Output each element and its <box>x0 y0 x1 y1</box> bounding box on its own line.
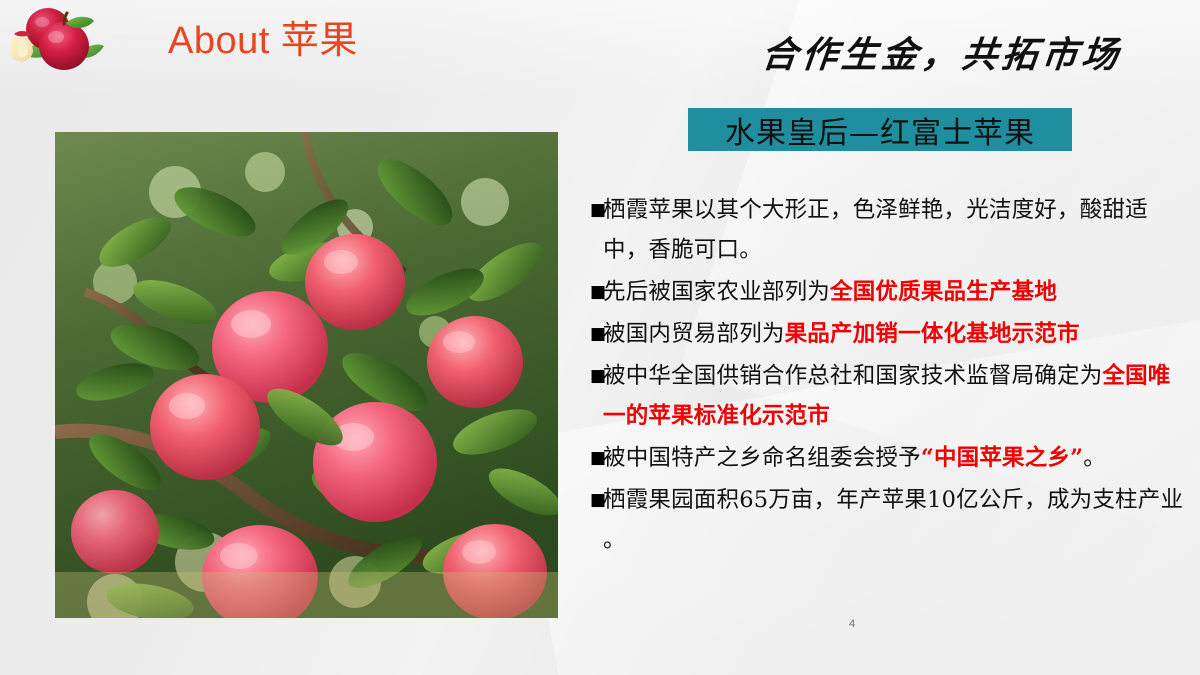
section-title-banner: 水果皇后—红富士苹果 <box>688 108 1072 151</box>
bullet-list: ■ 栖霞苹果以其个大形正，色泽鲜艳，光洁度好，酸甜适中，香脆可口。 ■ 先后被国… <box>590 190 1190 562</box>
bullet-marker-icon: ■ <box>590 314 603 354</box>
bullet-marker-icon: ■ <box>590 480 603 520</box>
list-item: ■ 被中国特产之乡命名组委会授予“中国苹果之乡”。 <box>590 438 1190 478</box>
list-item: ■ 栖霞苹果以其个大形正，色泽鲜艳，光洁度好，酸甜适中，香脆可口。 <box>590 190 1190 270</box>
apple-orchard-photo <box>55 132 558 618</box>
section-title-text: 水果皇后—红富士苹果 <box>725 108 1035 152</box>
bullet-marker-icon: ■ <box>590 272 603 312</box>
page-number: 4 <box>849 618 855 630</box>
apples-logo-icon <box>6 4 110 78</box>
bullet-marker-icon: ■ <box>590 190 603 230</box>
page-title-en: About <box>168 20 270 62</box>
bullet-marker-icon: ■ <box>590 356 603 396</box>
bullet-text: 被中国特产之乡命名组委会授予“中国苹果之乡”。 <box>603 438 1190 478</box>
page-title-cn: 苹果 <box>281 18 358 62</box>
bullet-text: 栖霞苹果以其个大形正，色泽鲜艳，光洁度好，酸甜适中，香脆可口。 <box>603 190 1190 270</box>
list-item: ■ 栖霞果园面积65万亩，年产苹果10亿公斤，成为支柱产业 。 <box>590 480 1190 560</box>
bullet-marker-icon: ■ <box>590 438 603 478</box>
list-item: ■ 被国内贸易部列为果品产加销一体化基地示范市 <box>590 314 1190 354</box>
bullet-text: 栖霞果园面积65万亩，年产苹果10亿公斤，成为支柱产业 。 <box>603 480 1190 560</box>
list-item: ■ 被中华全国供销合作总社和国家技术监督局确定为全国唯一的苹果标准化示范市 <box>590 356 1190 436</box>
bullet-text: 被中华全国供销合作总社和国家技术监督局确定为全国唯一的苹果标准化示范市 <box>603 356 1190 436</box>
list-item: ■ 先后被国家农业部列为全国优质果品生产基地 <box>590 272 1190 312</box>
slide: About 苹果 合作生金，共拓市场 水果皇后—红富士苹果 <box>0 0 1200 675</box>
page-title: About 苹果 <box>168 18 358 65</box>
slogan-text: 合作生金，共拓市场 <box>759 26 1124 78</box>
bullet-text: 被国内贸易部列为果品产加销一体化基地示范市 <box>603 314 1190 354</box>
bullet-text: 先后被国家农业部列为全国优质果品生产基地 <box>603 272 1190 312</box>
